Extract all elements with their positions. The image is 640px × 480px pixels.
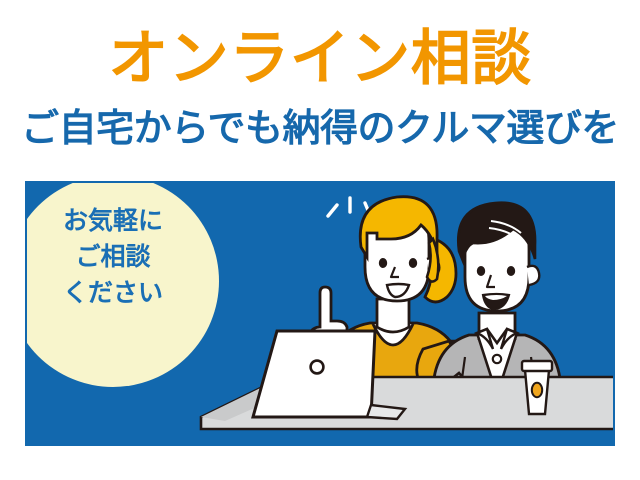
- illustration-panel: お気軽に ご相談 ください: [25, 181, 615, 446]
- headline-area: オンライン相談 ご自宅からでも納得のクルマ選びを: [0, 0, 640, 175]
- man-shirt-button: [493, 355, 501, 363]
- cup-lid: [522, 361, 552, 371]
- online-consultation-banner: オンライン相談 ご自宅からでも納得のクルマ選びを: [0, 0, 640, 480]
- woman-eye-left: [379, 258, 387, 268]
- page-subtitle: ご自宅からでも納得のクルマ選びを: [0, 105, 640, 151]
- laptop-logo: [311, 361, 324, 374]
- badge-line-2: ご相談: [25, 239, 201, 275]
- page-title: オンライン相談: [0, 25, 640, 93]
- badge-text-block: お気軽に ご相談 ください: [25, 203, 201, 311]
- cup-logo: [532, 383, 542, 397]
- woman-eye-right: [409, 258, 417, 268]
- man-eye-left: [477, 266, 485, 276]
- badge-line-3: ください: [25, 275, 201, 311]
- man-eye-right: [507, 266, 515, 276]
- badge-line-1: お気軽に: [25, 203, 201, 239]
